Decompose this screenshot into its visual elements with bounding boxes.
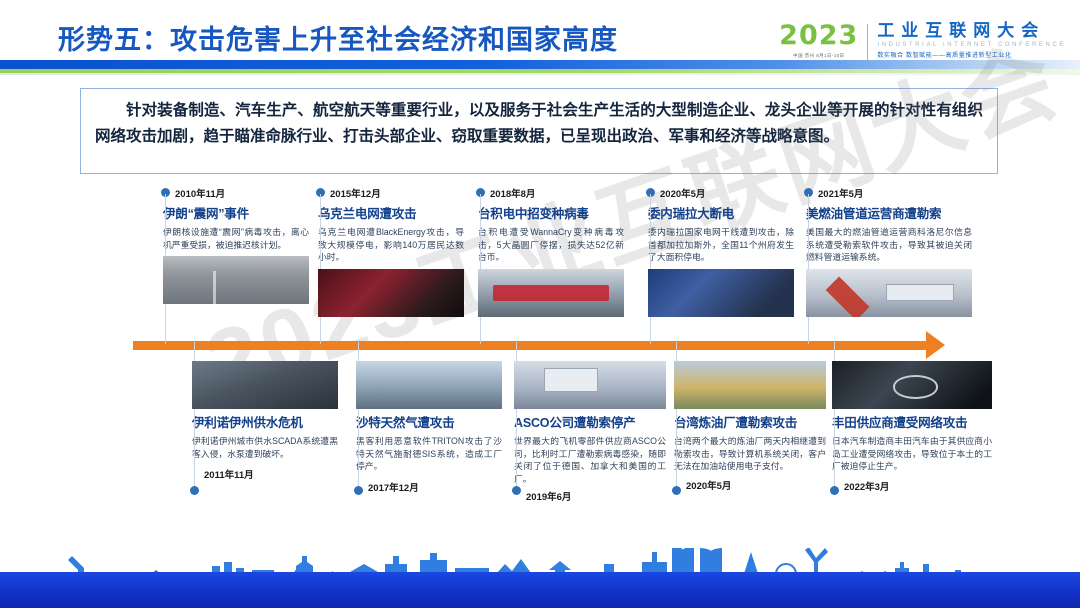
event-title: 沙特天然气遭攻击	[356, 412, 502, 431]
timeline-dot-icon	[354, 486, 363, 495]
timeline-card-top-5[interactable]: 2021年5月 美燃油管道运营商遭勒索 美国最大的燃油管道运营商科洛尼尔信息系统…	[800, 186, 972, 317]
slide-footer	[0, 548, 1080, 608]
timeline-dot-icon	[512, 486, 521, 495]
slide-header: 形势五：攻击危害上升至社会经济和国家高度 2023 中国·苏州 8月1日-10日…	[0, 0, 1080, 72]
event-thumbnail	[674, 361, 826, 409]
slide-root: 形势五：攻击危害上升至社会经济和国家高度 2023 中国·苏州 8月1日-10日…	[0, 0, 1080, 608]
event-date: 2015年12月	[330, 186, 464, 200]
timeline-dot-icon	[672, 486, 681, 495]
event-body: 伊朗核设施遭“震网”病毒攻击，离心机严重受损，被迫推迟核计划。	[163, 226, 309, 251]
event-date: 2020年5月	[660, 186, 794, 200]
timeline-arrow-icon	[926, 331, 945, 359]
event-thumbnail	[318, 269, 464, 317]
event-title: 台积电中招变种病毒	[478, 203, 624, 222]
event-thumbnail	[478, 269, 624, 317]
timeline-dot-icon	[830, 486, 839, 495]
timeline-card-bottom-2[interactable]: 沙特天然气遭攻击 黑客利用恶意软件TRITON攻击了沙特天然气施耐德SIS系统，…	[350, 356, 502, 494]
logo-english-name: INDUSTRIAL INTERNET CONFERENCE	[877, 42, 1066, 48]
event-title: ASCO公司遭勒索停产	[514, 412, 666, 431]
event-title: 伊朗“震网”事件	[163, 203, 309, 222]
timeline-card-bottom-1[interactable]: 伊利诺伊州供水危机 伊利诺伊州城市供水SCADA系统遭黑客入侵，水泵遭到破坏。 …	[186, 356, 338, 481]
timeline-card-top-4[interactable]: 2020年5月 委内瑞拉大断电 委内瑞拉国家电网干线遭到攻击，除首都加拉加斯外，…	[642, 186, 794, 317]
conference-logo: 2023 中国·苏州 8月1日-10日 工业互联网大会 INDUSTRIAL I…	[779, 22, 1066, 62]
event-thumbnail	[192, 361, 338, 409]
event-title: 委内瑞拉大断电	[648, 203, 794, 222]
event-body: 伊利诺伊州城市供水SCADA系统遭黑客入侵，水泵遭到破坏。	[192, 435, 338, 460]
event-thumbnail	[832, 361, 992, 409]
footer-ground-band	[0, 572, 1080, 608]
intro-paragraph: 针对装备制造、汽车生产、航空航天等重要行业，以及服务于社会生产生活的大型制造企业…	[95, 98, 983, 150]
event-title: 伊利诺伊州供水危机	[192, 412, 338, 431]
event-date: 2018年8月	[490, 186, 624, 200]
timeline-card-bottom-4[interactable]: 台湾炼油厂遭勒索攻击 台湾两个最大的炼油厂两天内相继遭到勒索攻击，导致计算机系统…	[668, 356, 826, 492]
timeline-card-top-2[interactable]: 2015年12月 乌克兰电网遭攻击 乌克兰电网遭BlackEnergy攻击，导致…	[312, 186, 464, 317]
event-title: 台湾炼油厂遭勒索攻击	[674, 412, 826, 431]
event-date: 2020年5月	[686, 478, 826, 492]
timeline-card-top-3[interactable]: 2018年8月 台积电中招变种病毒 台积电遭受WannaCry变种病毒攻击，5大…	[472, 186, 624, 317]
event-body: 乌克兰电网遭BlackEnergy攻击，导致大规模停电，影响140万居民达数小时…	[318, 226, 464, 264]
event-thumbnail	[163, 256, 309, 304]
event-body: 黑客利用恶意软件TRITON攻击了沙特天然气施耐德SIS系统，造成工厂停产。	[356, 435, 502, 473]
timeline-dot-icon	[190, 486, 199, 495]
event-body: 委内瑞拉国家电网干线遭到攻击，除首都加拉加斯外，全国11个州府发生了大面积停电。	[648, 226, 794, 264]
logo-year: 2023	[779, 22, 858, 49]
event-thumbnail	[648, 269, 794, 317]
event-thumbnail	[356, 361, 502, 409]
logo-chinese-name: 工业互联网大会	[877, 22, 1066, 40]
logo-text-block: 工业互联网大会 INDUSTRIAL INTERNET CONFERENCE 数…	[868, 22, 1066, 59]
logo-slogan: 数实融合 数智赋能——高质量推进新型工业化	[877, 50, 1066, 59]
event-thumbnail	[514, 361, 666, 409]
page-title: 形势五：攻击危害上升至社会经济和国家高度	[58, 18, 618, 57]
event-date: 2021年5月	[818, 186, 972, 200]
timeline: 2010年11月 伊朗“震网”事件 伊朗核设施遭“震网”病毒攻击，离心机严重受损…	[0, 186, 1080, 516]
event-date: 2017年12月	[368, 480, 502, 494]
event-thumbnail	[806, 269, 972, 317]
event-body: 台积电遭受WannaCry变种病毒攻击，5大晶圆厂停摆，损失达52亿新台币。	[478, 226, 624, 264]
event-body: 美国最大的燃油管道运营商科洛尼尔信息系统遭受勒索软件攻击，导致其被迫关闭燃料管道…	[806, 226, 972, 264]
event-body: 世界最大的飞机零部件供应商ASCO公司，比利时工厂遭勒索病毒感染，随即关闭了位于…	[514, 435, 666, 485]
intro-textbox: 针对装备制造、汽车生产、航空航天等重要行业，以及服务于社会生产生活的大型制造企业…	[80, 88, 998, 174]
header-blue-band	[0, 60, 1080, 69]
event-body: 日本汽车制造商丰田汽车由于其供应商小岛工业遭受网络攻击，导致位于本土的工厂被迫停…	[832, 435, 992, 473]
event-date: 2019年6月	[526, 489, 666, 503]
header-thin-band	[0, 73, 1080, 75]
timeline-card-bottom-3[interactable]: ASCO公司遭勒索停产 世界最大的飞机零部件供应商ASCO公司，比利时工厂遭勒索…	[508, 356, 666, 503]
event-title: 丰田供应商遭受网络攻击	[832, 412, 992, 431]
event-date: 2011年11月	[204, 467, 338, 481]
event-title: 乌克兰电网遭攻击	[318, 203, 464, 222]
event-date: 2022年3月	[844, 479, 992, 493]
logo-year-subtitle: 中国·苏州 8月1日-10日	[793, 53, 844, 59]
timeline-card-top-1[interactable]: 2010年11月 伊朗“震网”事件 伊朗核设施遭“震网”病毒攻击，离心机严重受损…	[157, 186, 309, 304]
timeline-card-bottom-5[interactable]: 丰田供应商遭受网络攻击 日本汽车制造商丰田汽车由于其供应商小岛工业遭受网络攻击，…	[826, 356, 992, 493]
event-date: 2010年11月	[175, 186, 309, 200]
logo-year-block: 2023 中国·苏州 8月1日-10日	[779, 22, 867, 59]
event-body: 台湾两个最大的炼油厂两天内相继遭到勒索攻击，导致计算机系统关闭，客户无法在加油站…	[674, 435, 826, 473]
event-title: 美燃油管道运营商遭勒索	[806, 203, 972, 222]
